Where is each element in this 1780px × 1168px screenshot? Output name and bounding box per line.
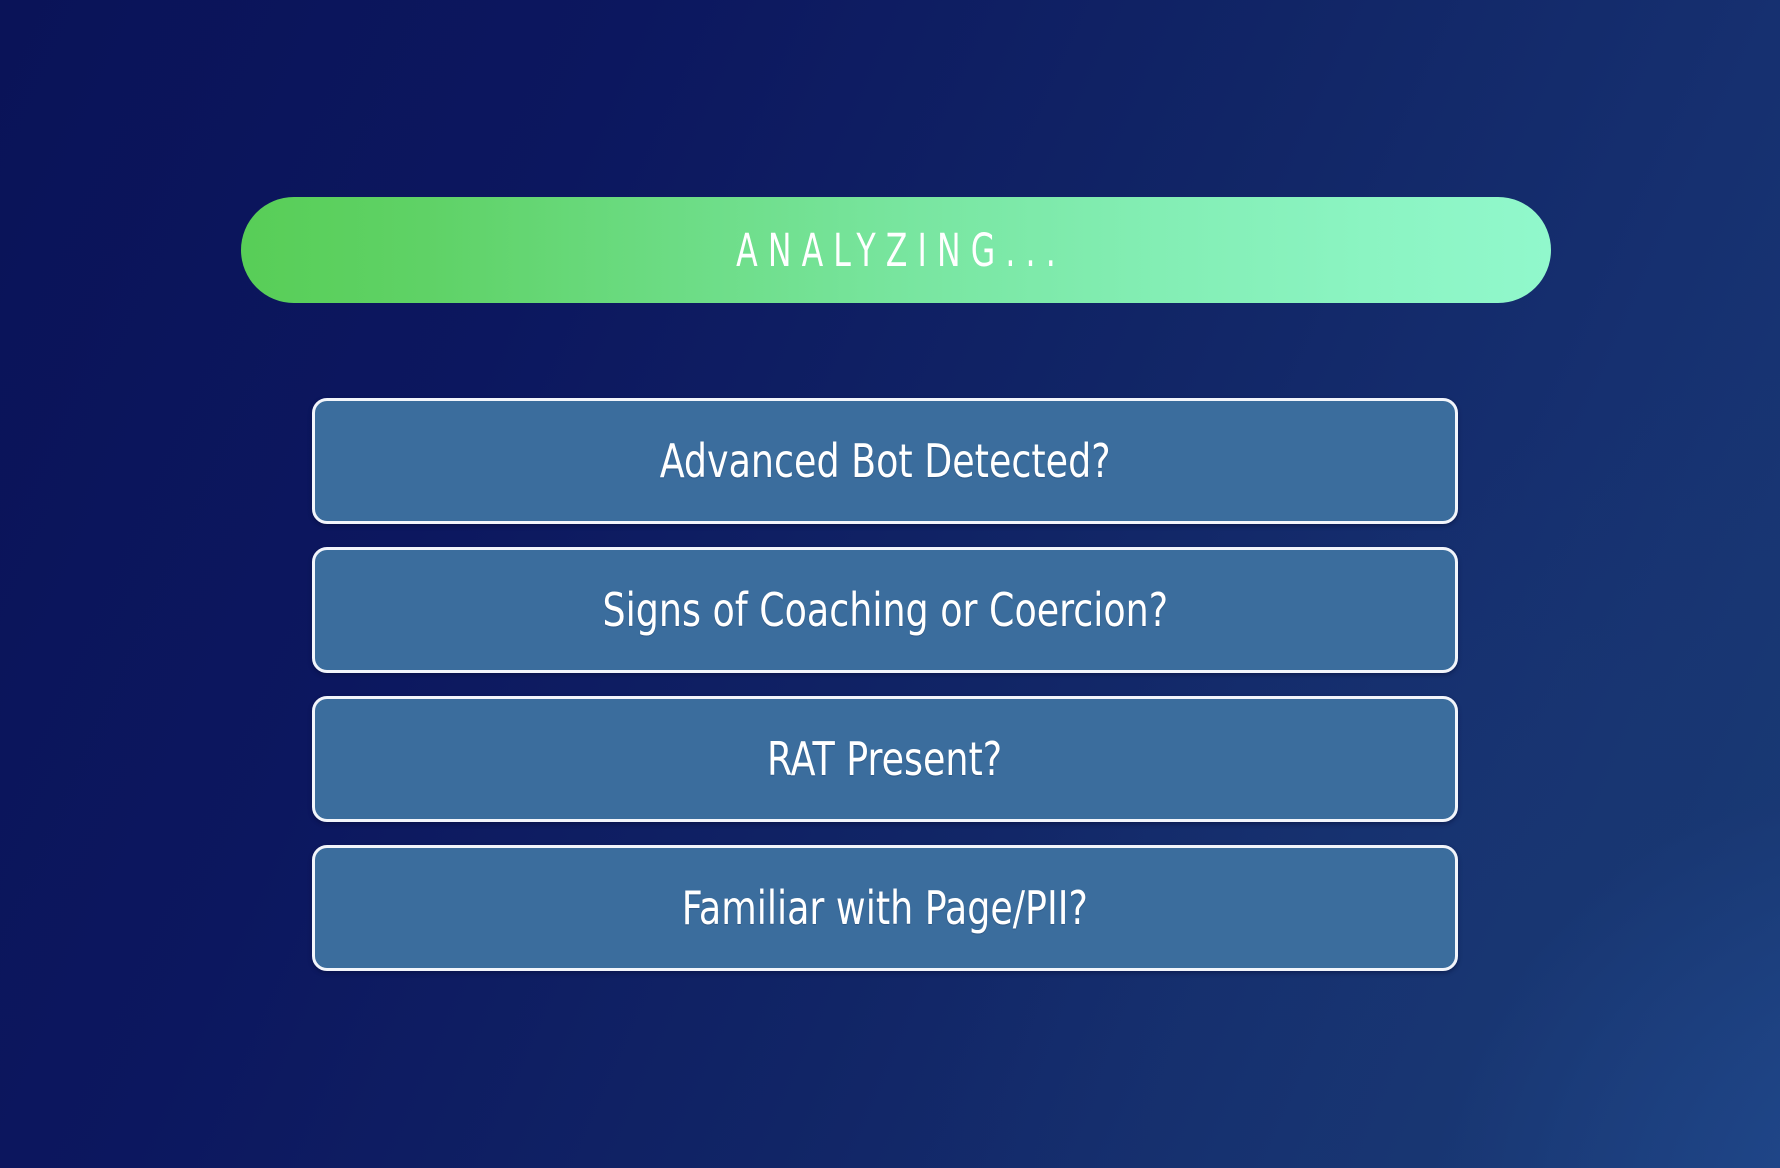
app-background: ANALYZING... Advanced Bot Detected? Sign… bbox=[0, 0, 1780, 1168]
checklist-item-label: Signs of Coaching or Coercion? bbox=[602, 587, 1168, 633]
checklist-item-label: Familiar with Page/PII? bbox=[682, 885, 1088, 931]
status-banner: ANALYZING... bbox=[241, 197, 1551, 303]
checklist-item-rat-present[interactable]: RAT Present? bbox=[312, 696, 1458, 822]
checklist-item-label: RAT Present? bbox=[767, 736, 1002, 782]
checklist-item-advanced-bot[interactable]: Advanced Bot Detected? bbox=[312, 398, 1458, 524]
analysis-checklist: Advanced Bot Detected? Signs of Coaching… bbox=[312, 398, 1458, 971]
checklist-item-familiar-page-pii[interactable]: Familiar with Page/PII? bbox=[312, 845, 1458, 971]
status-banner-label: ANALYZING... bbox=[726, 228, 1066, 273]
content-column: ANALYZING... Advanced Bot Detected? Sign… bbox=[0, 0, 1780, 1168]
checklist-item-coaching-coercion[interactable]: Signs of Coaching or Coercion? bbox=[312, 547, 1458, 673]
checklist-item-label: Advanced Bot Detected? bbox=[660, 438, 1111, 484]
